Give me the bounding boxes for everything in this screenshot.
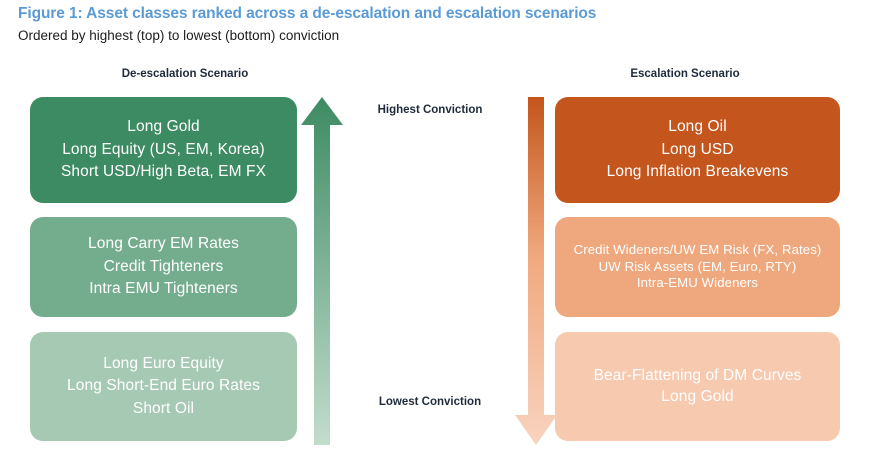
box-line: Long Oil	[565, 116, 830, 139]
box-line: Short Oil	[40, 398, 287, 421]
label-lowest-conviction: Lowest Conviction	[355, 396, 505, 408]
scenario-box-escalation-tier-3: Bear-Flattening of DM Curves Long Gold	[555, 332, 840, 441]
box-line: Credit Wideners/UW EM Risk (FX, Rates)	[565, 242, 830, 259]
box-line: Bear-Flattening of DM Curves	[565, 366, 830, 386]
box-line: Long Carry EM Rates	[40, 233, 287, 256]
box-line: Short USD/High Beta, EM FX	[40, 161, 287, 184]
box-line: Long Short-End Euro Rates	[40, 375, 287, 398]
column-header-de-escalation: De-escalation Scenario	[85, 68, 285, 80]
box-line: Intra-EMU Wideners	[565, 275, 830, 292]
box-line: Long Gold	[40, 116, 287, 139]
box-line: Long Euro Equity	[40, 353, 287, 376]
box-line: Long USD	[565, 139, 830, 162]
up-arrow-icon	[300, 95, 344, 447]
label-highest-conviction: Highest Conviction	[355, 104, 505, 116]
scenario-box-de-escalation-tier-1: Long Gold Long Equity (US, EM, Korea) Sh…	[30, 97, 297, 203]
box-line: Credit Tighteners	[40, 256, 287, 279]
scenario-box-de-escalation-tier-2: Long Carry EM Rates Credit Tighteners In…	[30, 217, 297, 317]
scenario-box-escalation-tier-1: Long Oil Long USD Long Inflation Breakev…	[555, 97, 840, 203]
down-arrow-icon	[512, 95, 558, 447]
box-line: Long Equity (US, EM, Korea)	[40, 139, 287, 162]
box-line: Intra EMU Tighteners	[40, 278, 287, 301]
scenario-comparison-chart: De-escalation Scenario Escalation Scenar…	[0, 0, 874, 453]
scenario-box-de-escalation-tier-3: Long Euro Equity Long Short-End Euro Rat…	[30, 332, 297, 441]
scenario-box-escalation-tier-2: Credit Wideners/UW EM Risk (FX, Rates) U…	[555, 217, 840, 317]
box-line: Long Inflation Breakevens	[565, 161, 830, 184]
box-line: UW Risk Assets (EM, Euro, RTY)	[565, 259, 830, 276]
box-line: Long Gold	[565, 387, 830, 407]
column-header-escalation: Escalation Scenario	[585, 68, 785, 80]
